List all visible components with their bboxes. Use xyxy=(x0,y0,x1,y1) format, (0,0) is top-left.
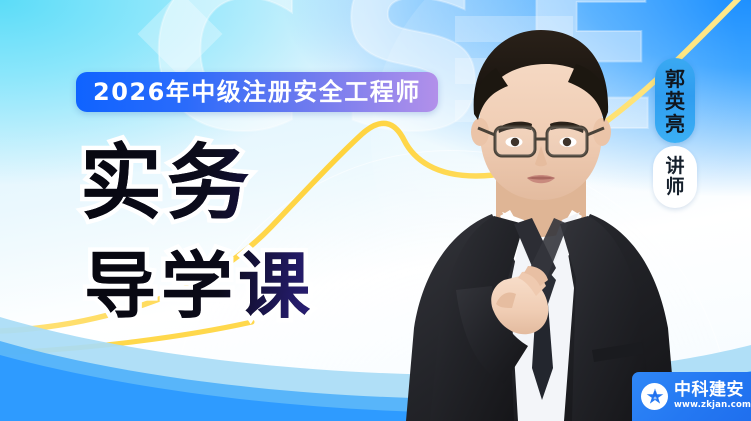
instructor-name-badge: 郭 英 亮 xyxy=(655,58,695,143)
star-emblem-glyph xyxy=(644,386,666,408)
headline-secondary: 导学课 xyxy=(84,250,315,322)
instructor-name-char-2: 英 xyxy=(665,90,685,112)
instructor-role-char-2: 师 xyxy=(665,177,684,198)
course-poster: CSE 2026年中级注册安全工程师 实务 实务 导学课 导学课 xyxy=(0,0,751,421)
instructor-name-char-3: 亮 xyxy=(665,113,685,135)
instructor-role-badge: 讲 师 xyxy=(653,146,697,208)
star-emblem-icon xyxy=(641,383,668,410)
instructor-name-char-1: 郭 xyxy=(665,68,685,90)
brand-logo-text: 中科建安 www.zkjan.com xyxy=(674,382,751,410)
headline-primary: 实务 xyxy=(80,143,254,225)
course-tag-badge: 2026年中级注册安全工程师 xyxy=(76,72,438,112)
brand-name: 中科建安 xyxy=(674,382,751,400)
instructor-portrait-graphic xyxy=(396,28,686,421)
brand-logo: 中科建安 www.zkjan.com xyxy=(632,372,751,421)
instructor-role-char-1: 讲 xyxy=(665,156,684,177)
brand-url: www.zkjan.com xyxy=(674,401,751,410)
instructor-photo xyxy=(396,28,686,421)
course-tag-label: 2026年中级注册安全工程师 xyxy=(93,80,421,104)
